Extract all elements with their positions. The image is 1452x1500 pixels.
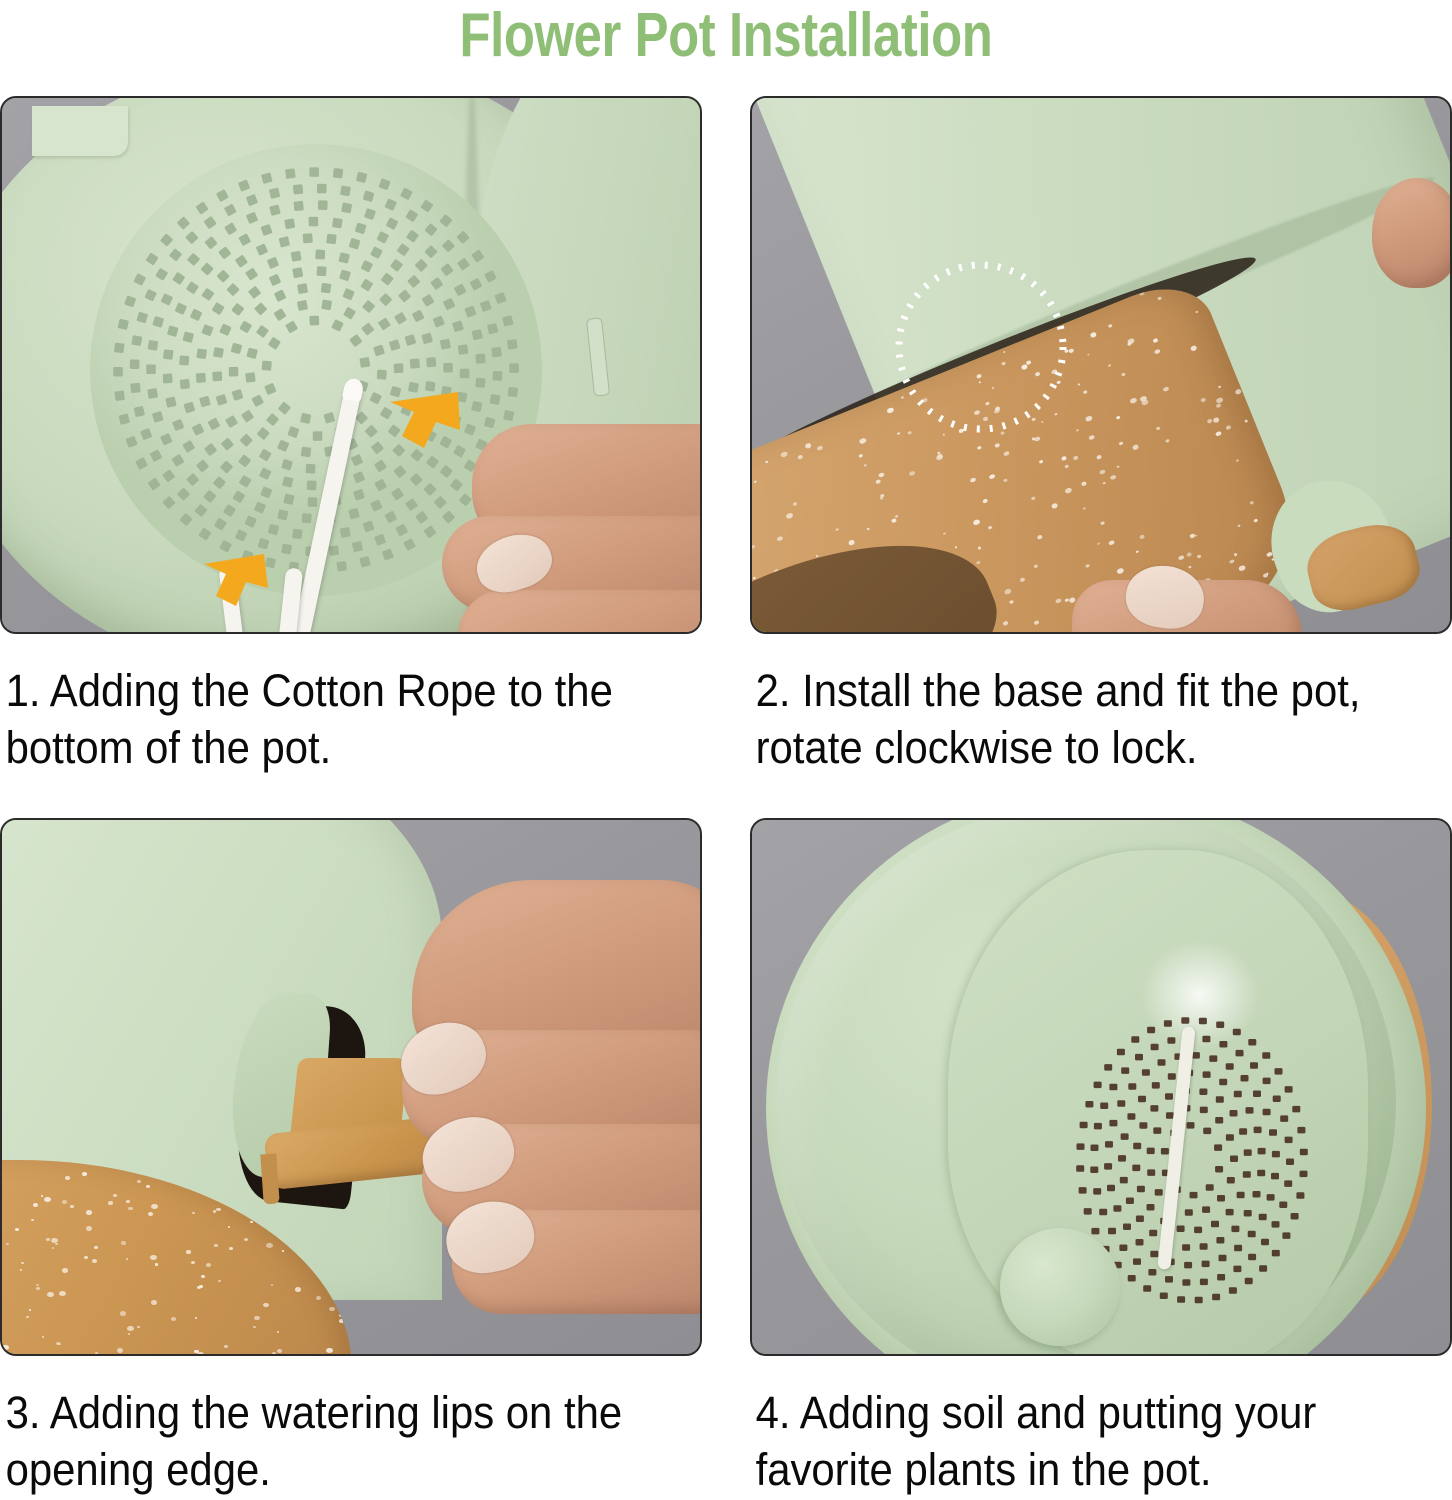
step-3-photo xyxy=(0,818,702,1356)
step-4-caption: 4. Adding soil and putting your favorite… xyxy=(750,1384,1403,1498)
page-title: Flower Pot Installation xyxy=(460,0,993,70)
step-2: 2. Install the base and fit the pot, rot… xyxy=(750,96,1452,776)
step-3: 3. Adding the watering lips on the openi… xyxy=(0,818,702,1498)
steps-grid: 1. Adding the Cotton Rope to the bottom … xyxy=(0,96,1452,1500)
hand xyxy=(432,398,702,634)
thumb xyxy=(1372,178,1452,288)
clip-tail xyxy=(260,1154,279,1205)
dotted-circle-highlight-icon xyxy=(892,258,1070,436)
step-1-photo xyxy=(0,96,702,634)
step-1: 1. Adding the Cotton Rope to the bottom … xyxy=(0,96,702,776)
step-4: 4. Adding soil and putting your favorite… xyxy=(750,818,1452,1498)
ball-bump xyxy=(1000,1228,1120,1346)
hand xyxy=(1072,550,1372,634)
step-4-photo xyxy=(750,818,1452,1356)
pot-notch xyxy=(32,106,128,156)
step-1-caption: 1. Adding the Cotton Rope to the bottom … xyxy=(0,662,653,776)
page-title-bar: Flower Pot Installation xyxy=(0,0,1452,96)
hand xyxy=(402,880,702,1350)
infographic-page: Flower Pot Installation xyxy=(0,0,1452,1500)
step-3-caption: 3. Adding the watering lips on the openi… xyxy=(0,1384,653,1498)
step-2-photo xyxy=(750,96,1452,634)
step-2-caption: 2. Install the base and fit the pot, rot… xyxy=(750,662,1403,776)
